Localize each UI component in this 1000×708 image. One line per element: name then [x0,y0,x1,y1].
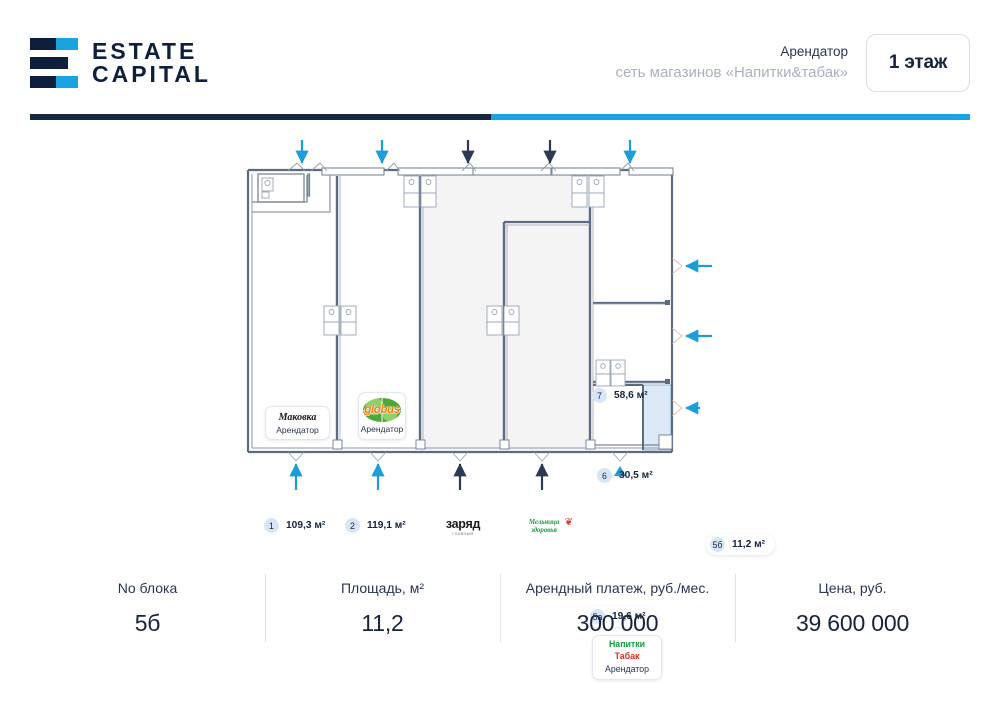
tenant-card-globus[interactable]: globus Арендатор [358,392,406,440]
tenant-brand-tabak: Табак [615,651,640,663]
block-area-5b: 11,2 м² [732,539,765,550]
tenant-logo-zaryad: заряд ГЛАВНЫЙ [434,517,492,536]
tenant-card-makovka[interactable]: Маковка Арендатор [265,406,330,440]
block-label-7[interactable]: 7 58,6 м² [592,388,648,403]
header-right: Арендатор сеть магазинов «Напитки&табак»… [615,34,970,92]
block-number-7: 7 [592,388,607,403]
divider-dark-segment [30,114,491,120]
melnica-wordmark: Мельница здоровья [516,518,572,534]
block-number-2: 2 [345,518,360,533]
logo-text-line2: CAPITAL [92,63,211,86]
info-col-area: Площадь, м² 11,2 [265,566,500,650]
floor-plan-drawing [0,130,1000,560]
tenant-role-makovka: Арендатор [276,425,319,435]
floor-plan-page: ESTATE CAPITAL Арендатор сеть магазинов … [0,0,1000,708]
info-title-price: Цена, руб. [818,580,886,596]
block-area-7: 58,6 м² [614,390,648,401]
tenant-logo-melnica: Мельница здоровья ❦ [516,518,572,534]
tenant-brand-makovka: Маковка [279,412,317,423]
block-area-2: 119,1 м² [367,520,406,531]
block-number-6: 6 [597,468,612,483]
melnica-flower-icon: ❦ [565,518,573,528]
info-col-rent: Арендный платеж, руб./мес. 300 000 [500,566,735,650]
divider-cyan-segment [491,114,970,120]
info-value-block-number: 5б [135,610,161,637]
info-title-rent: Арендный платеж, руб./мес. [526,580,709,596]
block-info-bar: No блока 5б Площадь, м² 11,2 Арендный пл… [30,566,970,650]
tenant-name: сеть магазинов «Напитки&табак» [615,62,848,85]
globus-logo-icon: globus [363,398,401,422]
block-area-1: 109,3 м² [286,520,325,531]
info-value-area: 11,2 [361,610,403,637]
tenant-label: Арендатор [615,42,848,62]
info-title-area: Площадь, м² [341,580,424,596]
block-number-1: 1 [264,518,279,533]
logo-mark-icon [30,38,78,88]
block-number-5b: 5б [710,537,725,552]
floor-badge[interactable]: 1 этаж [866,34,970,92]
tenant-role-globus: Арендатор [361,424,404,434]
floor-plan[interactable]: Маковка Арендатор globus Арендатор Напит… [0,130,1000,560]
block-label-6[interactable]: 6 30,5 м² [597,468,653,483]
logo-text-line1: ESTATE [92,40,211,63]
info-value-rent: 300 000 [577,610,659,637]
zaryad-wordmark: заряд [434,517,492,531]
zaryad-subtext: ГЛАВНЫЙ [434,532,492,536]
brand-logo: ESTATE CAPITAL [30,38,211,88]
info-value-price: 39 600 000 [796,610,909,637]
block-label-2[interactable]: 2 119,1 м² [345,518,406,533]
block-label-1[interactable]: 1 109,3 м² [264,518,325,533]
info-col-block-number: No блока 5б [30,566,265,650]
page-header: ESTATE CAPITAL Арендатор сеть магазинов … [0,0,1000,112]
tenant-role-napitki: Арендатор [605,664,649,676]
info-col-price: Цена, руб. 39 600 000 [735,566,970,650]
block-label-5b[interactable]: 5б 11,2 м² [706,534,775,555]
block-area-6: 30,5 м² [619,470,653,481]
header-divider [30,114,970,120]
tenant-brand-globus: globus [364,404,399,416]
info-title-block-number: No блока [118,580,178,596]
